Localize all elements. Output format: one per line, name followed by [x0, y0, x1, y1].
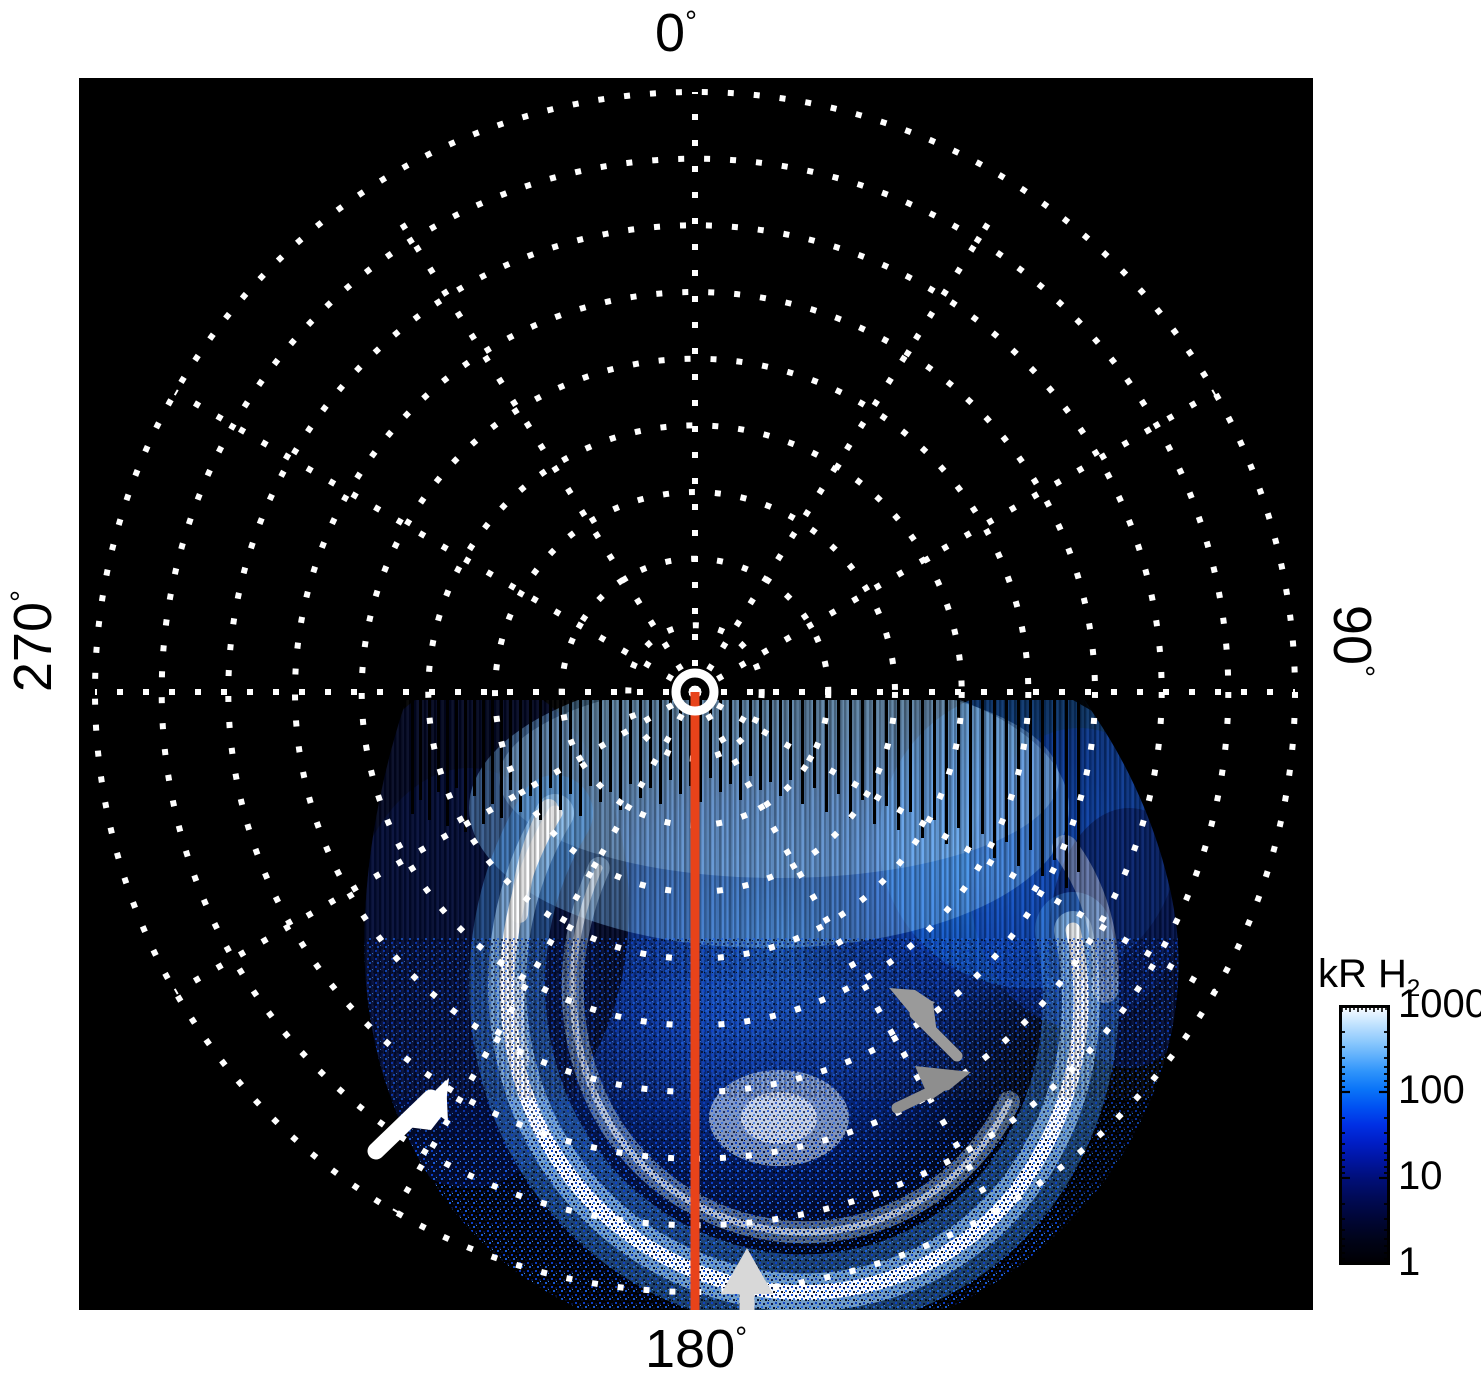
colorbar-tick-label-1000: 1000 [1398, 984, 1481, 1024]
polar-plot-canvas [79, 78, 1313, 1310]
colorbar-tick-label-100: 100 [1398, 1070, 1465, 1110]
polar-axis-label-180: 180° [645, 1322, 747, 1376]
polar-axis-label-0: 0° [655, 6, 697, 60]
colorbar-gradient [1339, 1005, 1390, 1265]
polar-axis-label-90: 90° [1325, 566, 1379, 716]
polar-plot-panel [79, 78, 1313, 1310]
polar-axis-label-270: 270° [6, 566, 60, 716]
colorbar-tick-label-10: 10 [1398, 1156, 1443, 1196]
colorbar-tick-label-1: 1 [1398, 1242, 1420, 1282]
figure-root: 0° 180° 270° 90° [0, 0, 1481, 1386]
